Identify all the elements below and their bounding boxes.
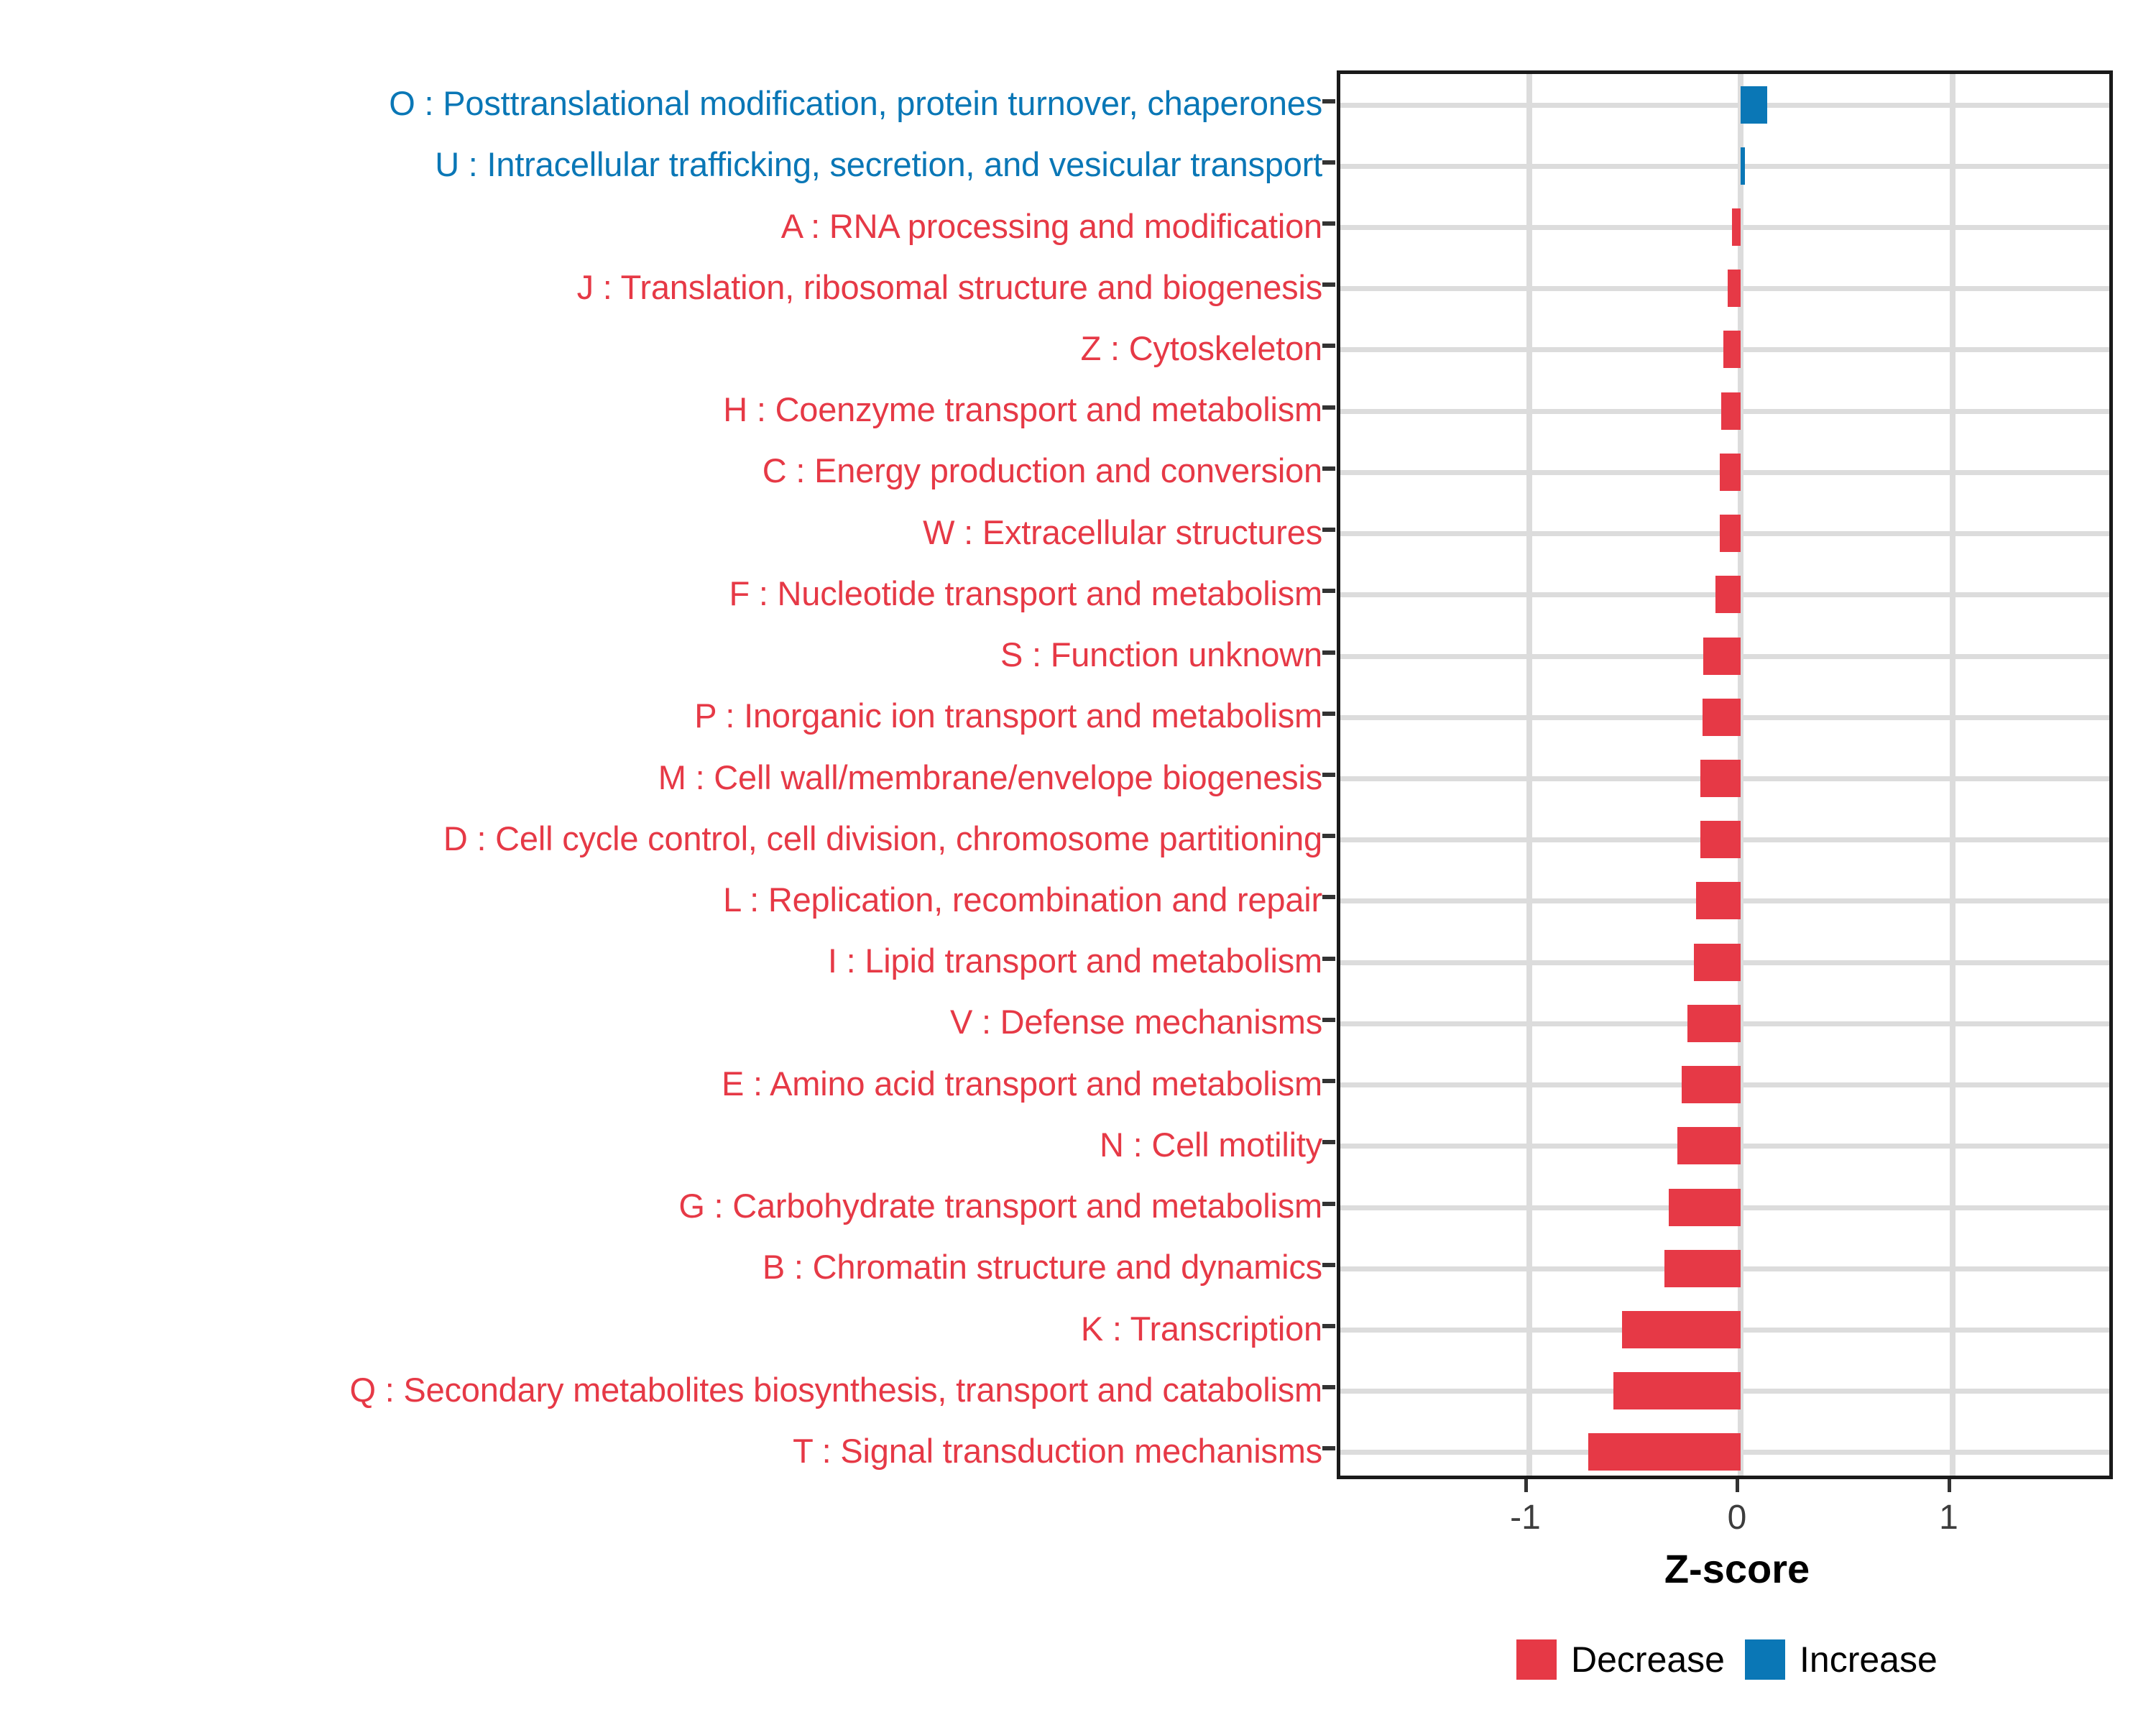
horizontal-gridline [1340,286,2109,291]
plot-panel [1337,70,2113,1479]
bar [1687,1005,1741,1042]
category-tick-mark [1322,1324,1335,1328]
bar [1696,882,1741,919]
cog-zscore-bar-chart: O : Posttranslational modification, prot… [0,0,2156,1725]
category-tick-mark [1322,1385,1335,1389]
bar [1700,760,1741,797]
x-tick-mark [1948,1479,1951,1492]
bar [1720,454,1741,491]
x-tick-mark [1736,1479,1739,1492]
category-tick-mark [1322,1202,1335,1206]
bar [1588,1433,1741,1471]
bar [1694,944,1741,981]
bar [1715,576,1741,613]
category-tick-mark [1322,773,1335,777]
horizontal-gridline [1340,103,2109,108]
x-tick-mark [1524,1479,1528,1492]
category-axis-labels: O : Posttranslational modification, prot… [0,70,1322,1479]
category-tick-mark [1322,957,1335,961]
bar [1677,1127,1741,1164]
category-tick-mark [1322,282,1335,287]
horizontal-gridline [1340,164,2109,169]
category-tick-mark [1322,344,1335,348]
bar [1720,515,1741,552]
category-tick-mark [1322,834,1335,838]
x-tick-label: 0 [1728,1498,1747,1537]
bar [1669,1189,1741,1226]
legend-item[interactable]: Decrease [1516,1639,1725,1680]
bar [1721,392,1741,430]
bar [1664,1250,1741,1287]
category-tick-mark [1322,650,1335,655]
category-tick-mark [1322,1263,1335,1267]
bar [1622,1311,1741,1348]
category-tick-mark [1322,221,1335,226]
category-tick-mark [1322,405,1335,410]
bar [1682,1066,1741,1103]
bar [1703,699,1741,736]
bar [1700,821,1741,858]
category-tick-mark [1322,1018,1335,1022]
category-tick-mark [1322,1140,1335,1144]
bar [1703,638,1741,675]
bar [1741,86,1767,124]
category-tick-mark [1322,712,1335,716]
x-axis-title: Z-score [1664,1545,1810,1592]
legend-swatch-increase [1745,1639,1785,1680]
category-tick-mark [1322,895,1335,899]
category-tick-mark [1322,1446,1335,1450]
category-tick-mark [1322,466,1335,471]
horizontal-gridline [1340,225,2109,230]
x-tick-label: -1 [1510,1498,1541,1537]
vertical-gridline-1 [1950,74,1955,1476]
bar [1741,147,1745,185]
legend-item[interactable]: Increase [1745,1639,1938,1680]
bar [1723,331,1741,368]
legend-label: Decrease [1571,1639,1725,1680]
legend-label: Increase [1800,1639,1938,1680]
category-tick-mark [1322,528,1335,532]
category-tick-mark [1322,99,1335,103]
legend-swatch-decrease [1516,1639,1557,1680]
x-tick-label: 1 [1939,1498,1958,1537]
bar [1732,208,1741,246]
legend: DecreaseIncrease [1516,1639,1938,1680]
category-tick-mark [1322,1079,1335,1083]
bar [1613,1372,1741,1409]
category-tick-mark [1322,160,1335,165]
bar [1728,270,1741,307]
vertical-gridline-neg1 [1526,74,1532,1476]
category-tick-mark [1322,589,1335,593]
